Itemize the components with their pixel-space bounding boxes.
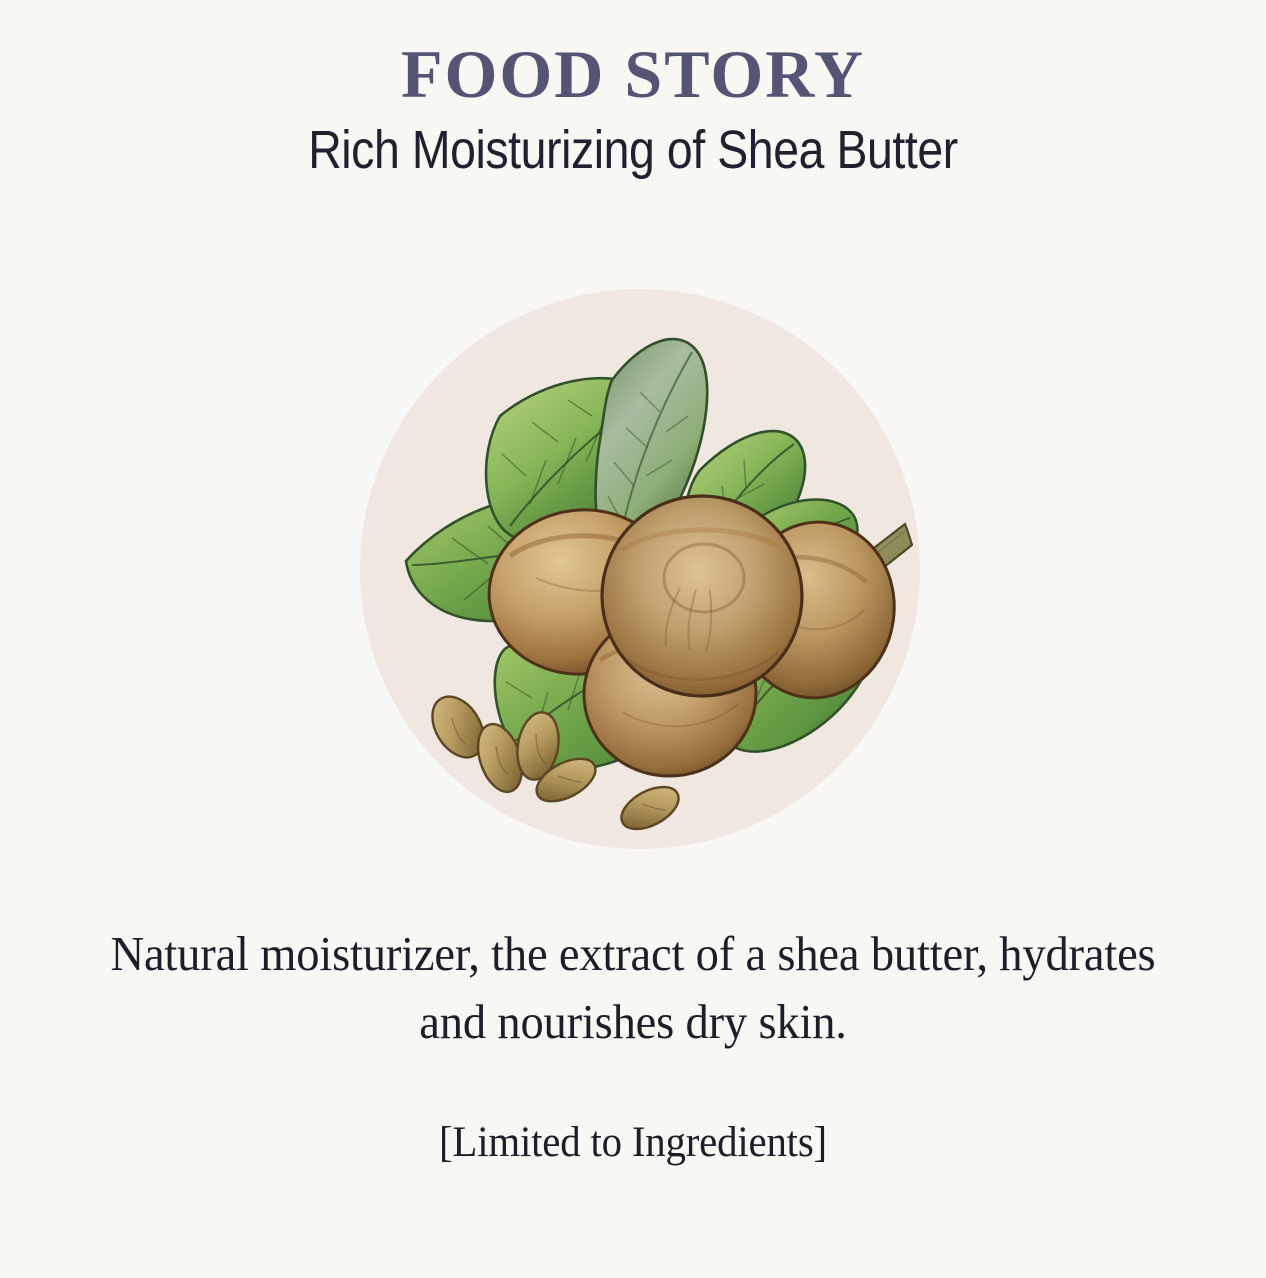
shea-nut-center <box>602 496 802 696</box>
shea-nut-illustration <box>360 288 920 850</box>
description-text: Natural moisturizer, the extract of a sh… <box>111 920 1156 1055</box>
body-copy: Natural moisturizer, the extract of a sh… <box>0 920 1266 1169</box>
header: FOOD STORY Rich Moisturizing of Shea But… <box>0 0 1266 179</box>
page-title: FOOD STORY <box>0 0 1266 108</box>
food-story-card: FOOD STORY Rich Moisturizing of Shea But… <box>0 0 1266 1278</box>
page-subtitle: Rich Moisturizing of Shea Butter <box>89 108 1178 179</box>
illustration-container <box>360 288 920 850</box>
ingredient-note: [Limited to Ingredients] <box>32 1055 1235 1169</box>
